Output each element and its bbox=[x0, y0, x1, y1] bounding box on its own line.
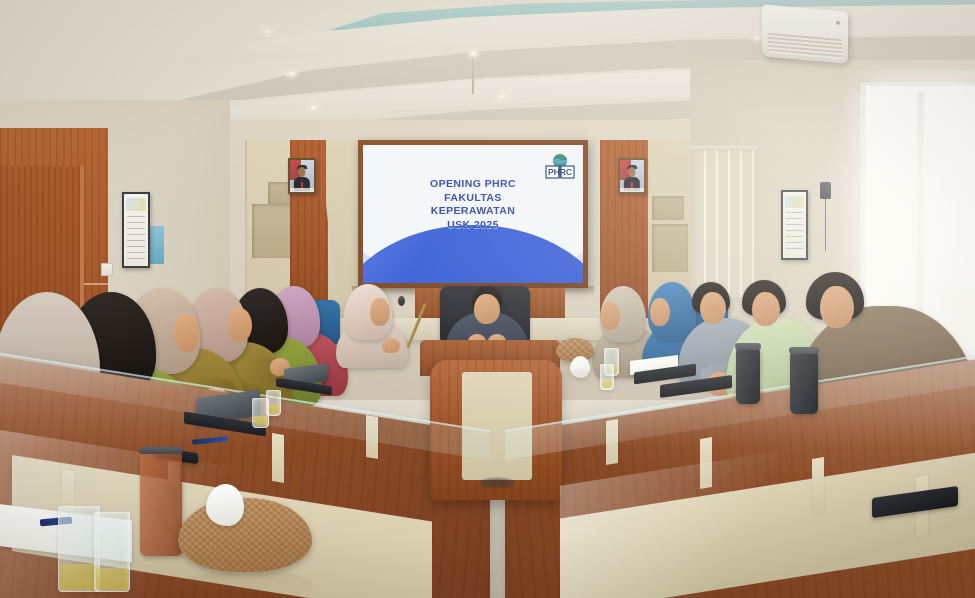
face bbox=[600, 302, 620, 330]
framed-certificate-right bbox=[781, 190, 808, 260]
projector-screen-frame: PHRC OPENING PHRC FAKULTAS KEPERAWATAN U… bbox=[358, 140, 588, 288]
slide-text-block: OPENING PHRC FAKULTAS KEPERAWATAN USK 20… bbox=[363, 178, 583, 232]
rattan-food-cover bbox=[178, 498, 312, 572]
ac-indicator-light bbox=[836, 21, 840, 25]
vertical-blinds bbox=[694, 150, 756, 298]
ceiling-downlight bbox=[496, 93, 507, 100]
table-panel-strap bbox=[700, 437, 712, 489]
certificate-sheet bbox=[783, 192, 806, 258]
official-portrait-right bbox=[618, 158, 646, 194]
face bbox=[650, 298, 670, 326]
drinking-glass bbox=[94, 512, 130, 592]
water-tumbler bbox=[790, 352, 818, 414]
hand bbox=[382, 338, 400, 353]
face bbox=[370, 298, 390, 326]
tumbler-lid bbox=[139, 447, 183, 454]
meeting-room-photo: PHRC OPENING PHRC FAKULTAS KEPERAWATAN U… bbox=[0, 0, 975, 598]
ceiling-cable bbox=[472, 58, 474, 94]
tumbler-lid bbox=[789, 347, 819, 354]
wall-niche bbox=[652, 196, 684, 220]
chair-base-shadow bbox=[480, 478, 514, 488]
face bbox=[820, 286, 854, 328]
wall-niche bbox=[652, 224, 688, 272]
device-cable bbox=[825, 199, 826, 251]
framed-certificate-left bbox=[122, 192, 150, 268]
face bbox=[700, 292, 726, 324]
portrait-nameplate bbox=[620, 188, 644, 192]
slide-line-2: FAKULTAS bbox=[363, 192, 583, 206]
tissue bbox=[206, 484, 244, 526]
ac-vent bbox=[768, 33, 842, 59]
glass-contents bbox=[96, 568, 128, 590]
face bbox=[474, 294, 500, 324]
face bbox=[174, 314, 200, 352]
portrait-head bbox=[298, 167, 305, 177]
portrait-image bbox=[290, 160, 314, 192]
table-center-panel bbox=[462, 372, 532, 480]
face bbox=[752, 292, 780, 326]
official-portrait-left bbox=[288, 158, 316, 194]
light-switch[interactable] bbox=[101, 263, 113, 276]
water-tumbler bbox=[140, 452, 182, 556]
slide-line-4: USK 2025 bbox=[363, 219, 583, 233]
ceiling-downlight bbox=[468, 50, 479, 57]
projector-screen: PHRC OPENING PHRC FAKULTAS KEPERAWATAN U… bbox=[363, 145, 583, 283]
glass-contents bbox=[60, 564, 98, 590]
wall-mounted-device[interactable] bbox=[820, 182, 831, 199]
tumbler-lid bbox=[735, 343, 761, 350]
portrait-nameplate bbox=[290, 188, 314, 192]
table-panel-strap bbox=[606, 419, 618, 465]
air-conditioner bbox=[762, 4, 848, 64]
table-panel-strap bbox=[272, 433, 284, 483]
certificate-header bbox=[126, 198, 146, 211]
certificate-sheet bbox=[124, 194, 148, 266]
glass-contents bbox=[602, 380, 612, 388]
certificate-header bbox=[785, 196, 804, 208]
slide-line-3: KEPERAWATAN bbox=[363, 205, 583, 219]
glass-contents bbox=[268, 405, 279, 414]
certificate-text-lines bbox=[127, 216, 145, 262]
ceiling-downlight bbox=[286, 70, 297, 77]
tissue bbox=[570, 356, 590, 378]
water-tumbler bbox=[736, 348, 760, 404]
table-panel-strap bbox=[812, 457, 824, 515]
svg-text:PHRC: PHRC bbox=[548, 167, 572, 177]
ceiling-downlight bbox=[262, 28, 273, 35]
phrc-logo-icon: PHRC bbox=[544, 151, 576, 183]
face bbox=[228, 308, 252, 342]
certificate-text-lines bbox=[786, 212, 803, 254]
teal-wall-tab bbox=[150, 226, 164, 264]
table-panel-strap bbox=[366, 415, 378, 459]
portrait-image bbox=[620, 160, 644, 192]
portrait-head bbox=[628, 167, 635, 177]
drinking-glass bbox=[600, 364, 614, 390]
ceiling-downlight bbox=[308, 104, 319, 111]
drinking-glass bbox=[252, 398, 269, 428]
glass-contents bbox=[254, 416, 267, 426]
microphone-head bbox=[398, 296, 405, 306]
